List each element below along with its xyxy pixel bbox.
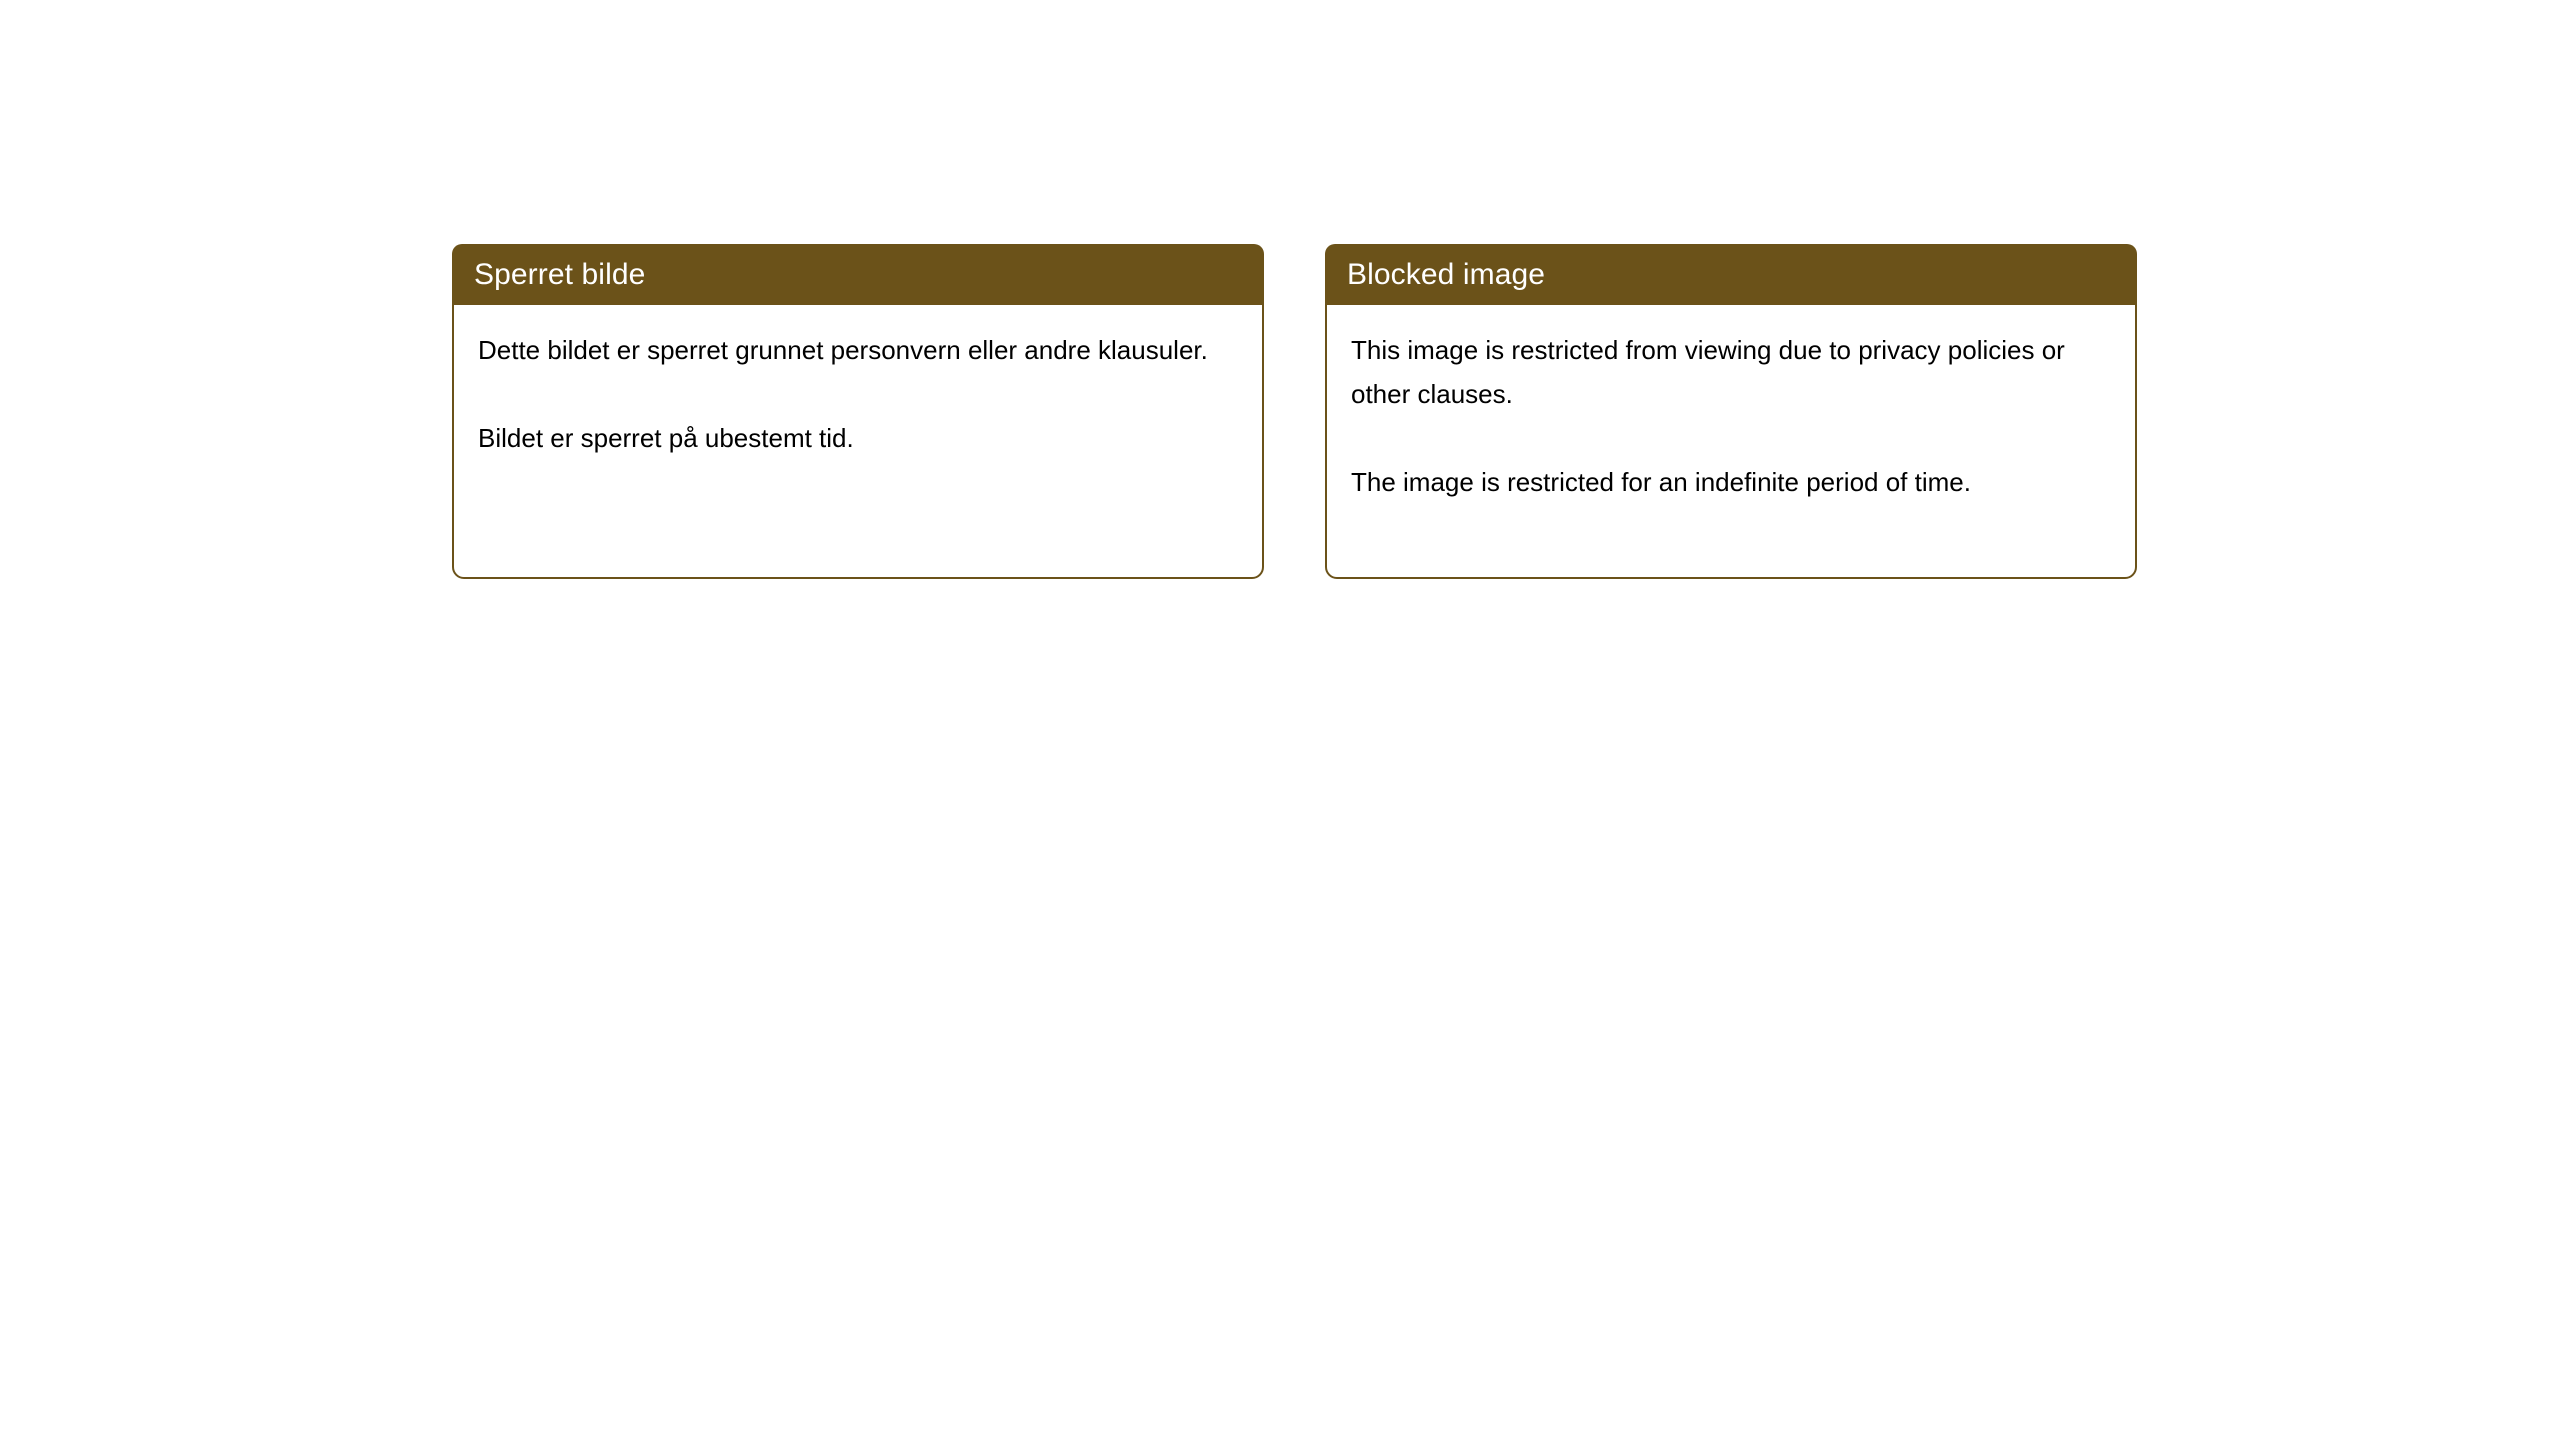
panel-header-english: Blocked image — [1325, 244, 2137, 305]
panel-body-norwegian: Dette bildet er sperret grunnet personve… — [454, 309, 1262, 577]
panel-body-english: This image is restricted from viewing du… — [1327, 309, 2135, 577]
paragraph-spacer — [478, 372, 1238, 416]
panel-paragraph-secondary-norwegian: Bildet er sperret på ubestemt tid. — [478, 416, 1218, 460]
blocked-image-notice-norwegian: Sperret bilde Dette bildet er sperret gr… — [452, 246, 1264, 579]
panel-paragraph-primary-english: This image is restricted from viewing du… — [1351, 328, 2091, 416]
page-canvas: Sperret bilde Dette bildet er sperret gr… — [0, 0, 2560, 1440]
panel-title-english: Blocked image — [1347, 258, 1545, 292]
panel-paragraph-primary-norwegian: Dette bildet er sperret grunnet personve… — [478, 328, 1218, 372]
panel-header-norwegian: Sperret bilde — [452, 244, 1264, 305]
paragraph-spacer — [1351, 416, 2111, 460]
panel-title-norwegian: Sperret bilde — [474, 258, 645, 292]
panel-paragraph-secondary-english: The image is restricted for an indefinit… — [1351, 460, 2091, 504]
blocked-image-notice-english: Blocked image This image is restricted f… — [1325, 246, 2137, 579]
